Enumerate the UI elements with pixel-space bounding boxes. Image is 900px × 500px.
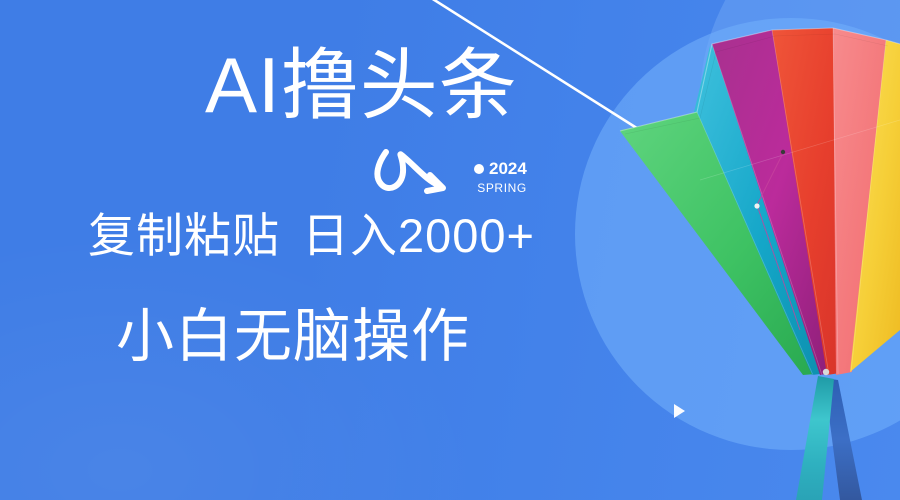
play-triangle-icon[interactable]: [674, 404, 685, 418]
poster-canvas: AI撸头条 复制粘贴日入2000+ 小白无脑操作 2024 SPRING: [0, 0, 900, 500]
badge-year: 2024: [489, 160, 527, 177]
badge-year-row: 2024: [474, 160, 527, 177]
badge-dot-icon: [474, 164, 484, 174]
page-title: AI撸头条: [205, 46, 518, 124]
subtitle-copy-paste: 复制粘贴: [88, 209, 280, 262]
subtitle-daily-income: 日入2000+: [302, 209, 535, 262]
subtitle-line-1: 复制粘贴日入2000+: [88, 212, 535, 259]
subtitle-line-2: 小白无脑操作: [116, 308, 470, 366]
badge-season: SPRING: [477, 182, 527, 194]
season-badge: 2024 SPRING: [474, 160, 527, 194]
